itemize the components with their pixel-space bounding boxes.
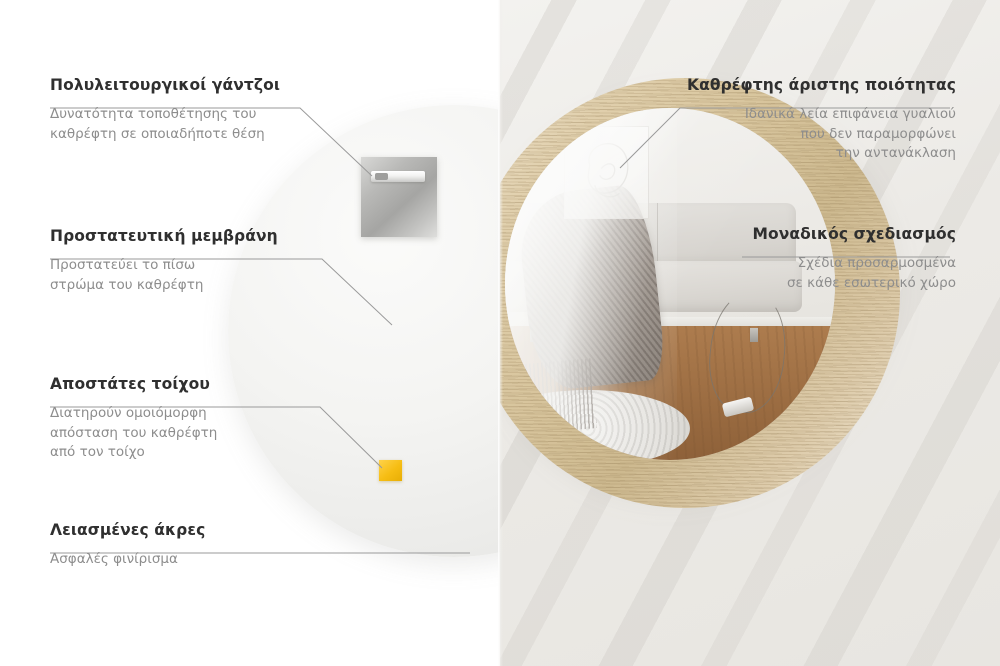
feature-title: Προστατευτική μεμβράνη [50, 227, 278, 245]
feature-title: Μοναδικός σχεδιασμός [752, 225, 956, 243]
feature-title: Λειασμένες άκρες [50, 521, 205, 539]
hook-slot [371, 171, 425, 182]
feature-unique-design: Μοναδικός σχεδιασμός Σχέδια προσαρμοσμέν… [752, 225, 956, 293]
feature-title: Πολυλειτουργικοί γάντζοι [50, 76, 280, 94]
yellow-spacer [379, 460, 402, 481]
feature-top-quality-mirror: Καθρέφτης άριστης ποιότητας Ιδανικά λεία… [687, 76, 956, 164]
feature-description: Ασφαλές φινίρισμα [50, 550, 205, 570]
feature-multifunctional-hooks: Πολυλειτουργικοί γάντζοι Δυνατότητα τοπο… [50, 76, 280, 144]
sofa-cushion-seam [657, 203, 659, 269]
feature-description: Προστατεύει το πίσω στρώμα του καθρέφτη [50, 256, 278, 295]
feature-title: Καθρέφτης άριστης ποιότητας [687, 76, 956, 94]
feature-description: Σχέδια προσαρμοσμένα σε κάθε εσωτερικό χ… [752, 254, 956, 293]
feature-description: Ιδανικά λεία επιφάνεια γυαλιού που δεν π… [687, 105, 956, 164]
feature-description: Δυνατότητα τοποθέτησης του καθρέφτη σε ο… [50, 105, 280, 144]
feature-polished-edges: Λειασμένες άκρες Ασφαλές φινίρισμα [50, 521, 205, 570]
feature-wall-spacers: Αποστάτες τοίχου Διατηρούν ομοιόμορφη απ… [50, 375, 217, 463]
feature-protective-membrane: Προστατευτική μεμβράνη Προστατεύει το πί… [50, 227, 278, 295]
feature-title: Αποστάτες τοίχου [50, 375, 217, 393]
poster-line-art-icon [565, 127, 648, 219]
reflected-framed-poster [564, 126, 649, 220]
panel-divider [498, 0, 503, 666]
hook-plate [361, 157, 437, 237]
infographic-canvas: Πολυλειτουργικοί γάντζοι Δυνατότητα τοπο… [0, 0, 1000, 666]
feature-description: Διατηρούν ομοιόμορφη απόσταση του καθρέφ… [50, 404, 217, 463]
throw-fringe [525, 359, 597, 435]
